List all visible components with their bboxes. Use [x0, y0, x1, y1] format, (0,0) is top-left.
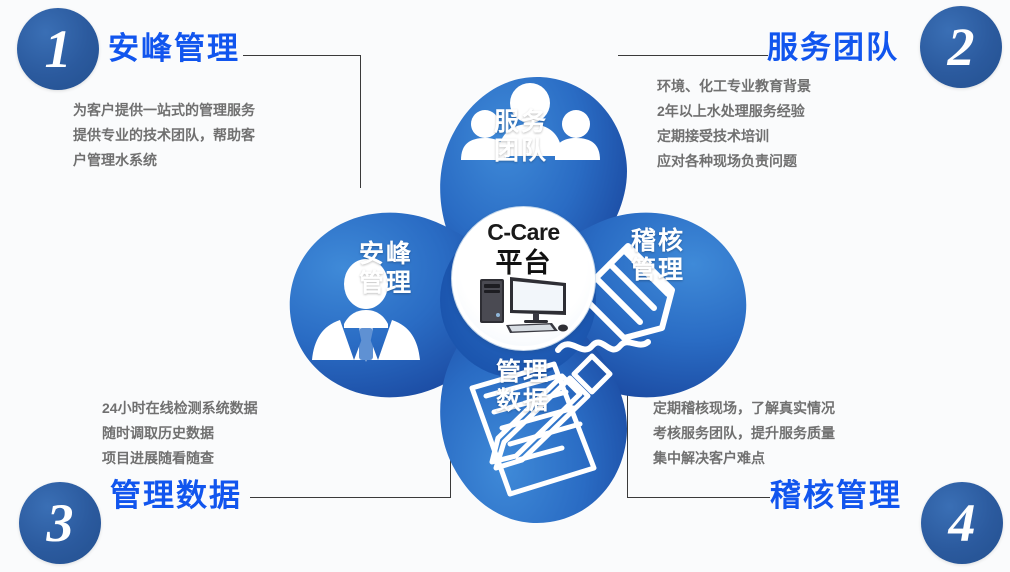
- number-badge-2: 2: [920, 6, 1002, 88]
- petal-label-service-team: 服务 团队: [482, 108, 560, 166]
- petal-label-audit-management: 稽核 管理: [617, 227, 699, 285]
- quadrant-1-description: 为客户提供一站式的管理服务 提供专业的技术团队，帮助客 户管理水系统: [73, 98, 255, 173]
- center-hub-inner: C-Care 平台: [456, 211, 591, 346]
- petal-label-anfeng-management: 安峰 管理: [345, 240, 427, 298]
- quadrant-1-heading: 安峰管理: [108, 23, 240, 68]
- quadrant-3-heading: 管理数据: [110, 470, 242, 515]
- infographic-canvas: 1 2 3 4 安峰管理 服务团队 管理数据 稽核管理 为客户提供一站式的管理服…: [0, 0, 1010, 572]
- number-badge-3: 3: [19, 482, 101, 564]
- quadrant-3-description: 24小时在线检测系统数据 随时调取历史数据 项目进展随看随查: [102, 396, 258, 471]
- number-badge-1: 1: [17, 8, 99, 90]
- description-line: 24小时在线检测系统数据: [102, 396, 258, 421]
- description-line: 随时调取历史数据: [102, 421, 258, 446]
- quadrant-2-heading: 服务团队: [767, 22, 899, 67]
- desktop-computer-icon: [478, 273, 570, 335]
- description-line: 项目进展随看随查: [102, 446, 258, 471]
- description-line: 提供专业的技术团队，帮助客: [73, 123, 255, 148]
- petal-label-management-data: 管理 数据: [482, 358, 564, 416]
- description-line: 户管理水系统: [73, 148, 255, 173]
- center-hub: C-Care 平台: [452, 207, 595, 350]
- number-badge-4: 4: [921, 482, 1003, 564]
- quadrant-4-heading: 稽核管理: [770, 470, 902, 515]
- description-line: 为客户提供一站式的管理服务: [73, 98, 255, 123]
